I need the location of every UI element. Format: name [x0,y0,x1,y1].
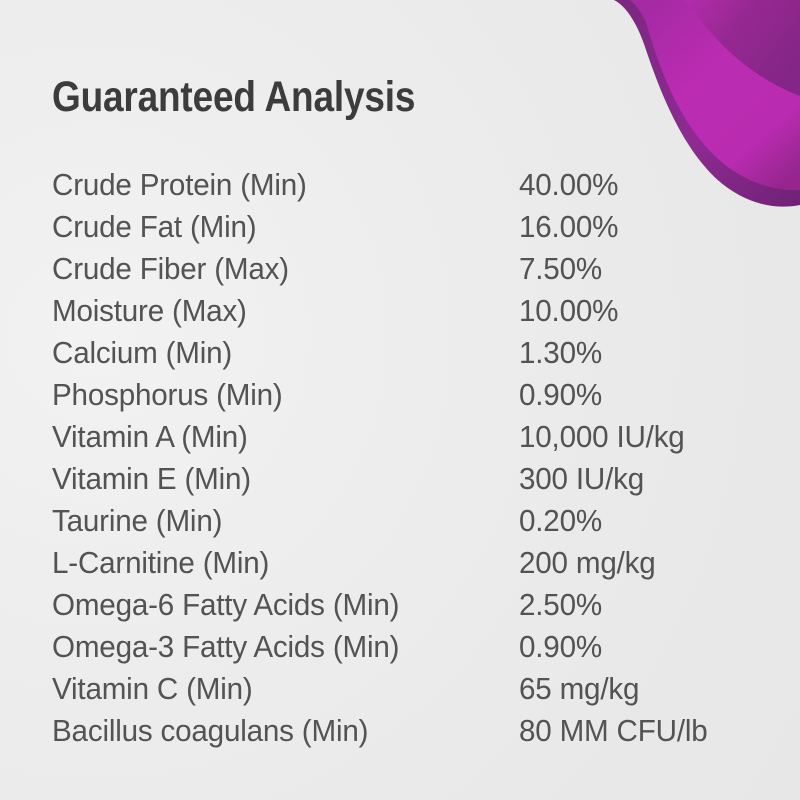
table-row: Crude Fiber (Max) 7.50% [52,248,764,290]
nutrient-label: Vitamin E (Min) [52,458,498,500]
table-row: Omega-3 Fatty Acids (Min) 0.90% [52,626,764,668]
table-row: Calcium (Min) 1.30% [52,332,764,374]
nutrient-label: Crude Fat (Min) [52,206,498,248]
nutrient-value: 16.00% [519,206,753,248]
nutrient-value: 10,000 IU/kg [519,416,753,458]
nutrient-value: 10.00% [519,290,753,332]
nutrient-value: 200 mg/kg [519,542,753,584]
nutrient-label: Bacillus coagulans (Min) [52,710,498,752]
table-row: Vitamin E (Min) 300 IU/kg [52,458,764,500]
nutrient-value: 7.50% [519,248,753,290]
nutrient-value: 80 MM CFU/lb [519,710,753,752]
nutrient-label: Omega-6 Fatty Acids (Min) [52,584,498,626]
nutrient-label: Vitamin A (Min) [52,416,498,458]
nutrient-label: Calcium (Min) [52,332,498,374]
nutrient-label: Phosphorus (Min) [52,374,498,416]
page-title: Guaranteed Analysis [52,76,415,119]
table-row: Crude Protein (Min) 40.00% [52,164,764,206]
table-row: Crude Fat (Min) 16.00% [52,206,764,248]
nutrient-label: L-Carnitine (Min) [52,542,498,584]
table-row: Omega-6 Fatty Acids (Min) 2.50% [52,584,764,626]
table-row: Bacillus coagulans (Min) 80 MM CFU/lb [52,710,764,752]
guaranteed-analysis-panel: Guaranteed Analysis Crude Protein (Min) … [0,0,800,800]
nutrient-value: 0.20% [519,500,753,542]
nutrient-value: 2.50% [519,584,753,626]
nutrient-label: Omega-3 Fatty Acids (Min) [52,626,498,668]
nutrient-label: Crude Fiber (Max) [52,248,498,290]
nutrient-label: Moisture (Max) [52,290,498,332]
nutrient-value: 65 mg/kg [519,668,753,710]
nutrient-value: 0.90% [519,626,753,668]
nutrient-label: Taurine (Min) [52,500,498,542]
guaranteed-analysis-table: Crude Protein (Min) 40.00% Crude Fat (Mi… [52,164,764,752]
table-row: Vitamin C (Min) 65 mg/kg [52,668,764,710]
table-row: Moisture (Max) 10.00% [52,290,764,332]
table-row: Phosphorus (Min) 0.90% [52,374,764,416]
nutrient-label: Crude Protein (Min) [52,164,498,206]
table-row: Taurine (Min) 0.20% [52,500,764,542]
table-row: Vitamin A (Min) 10,000 IU/kg [52,416,764,458]
nutrient-value: 0.90% [519,374,753,416]
nutrient-label: Vitamin C (Min) [52,668,498,710]
nutrient-value: 300 IU/kg [519,458,753,500]
nutrient-value: 40.00% [519,164,753,206]
nutrient-value: 1.30% [519,332,753,374]
table-row: L-Carnitine (Min) 200 mg/kg [52,542,764,584]
